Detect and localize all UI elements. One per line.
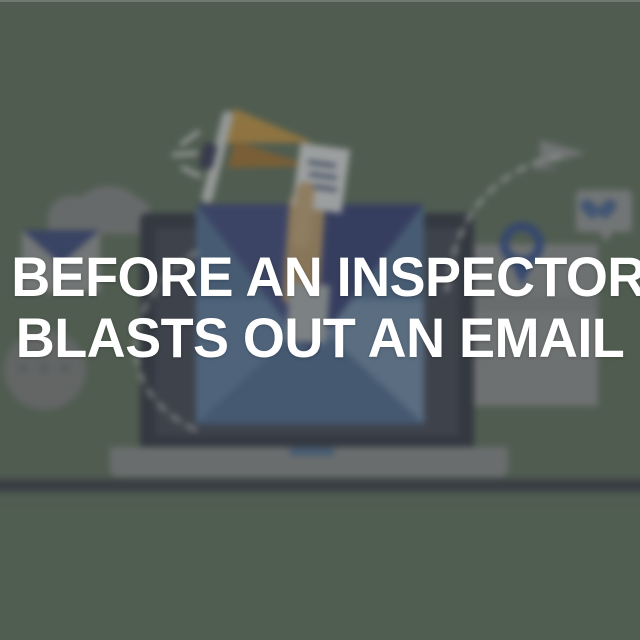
page-title: BEFORE AN INSPECTOR BLASTS OUT AN EMAIL xyxy=(11,246,629,368)
headline-line-2: BLASTS OUT AN EMAIL xyxy=(11,307,629,368)
top-hairline xyxy=(0,0,640,2)
headline-line-1: BEFORE AN INSPECTOR xyxy=(11,246,629,307)
image-canvas: BEFORE AN INSPECTOR BLASTS OUT AN EMAIL xyxy=(0,0,640,640)
